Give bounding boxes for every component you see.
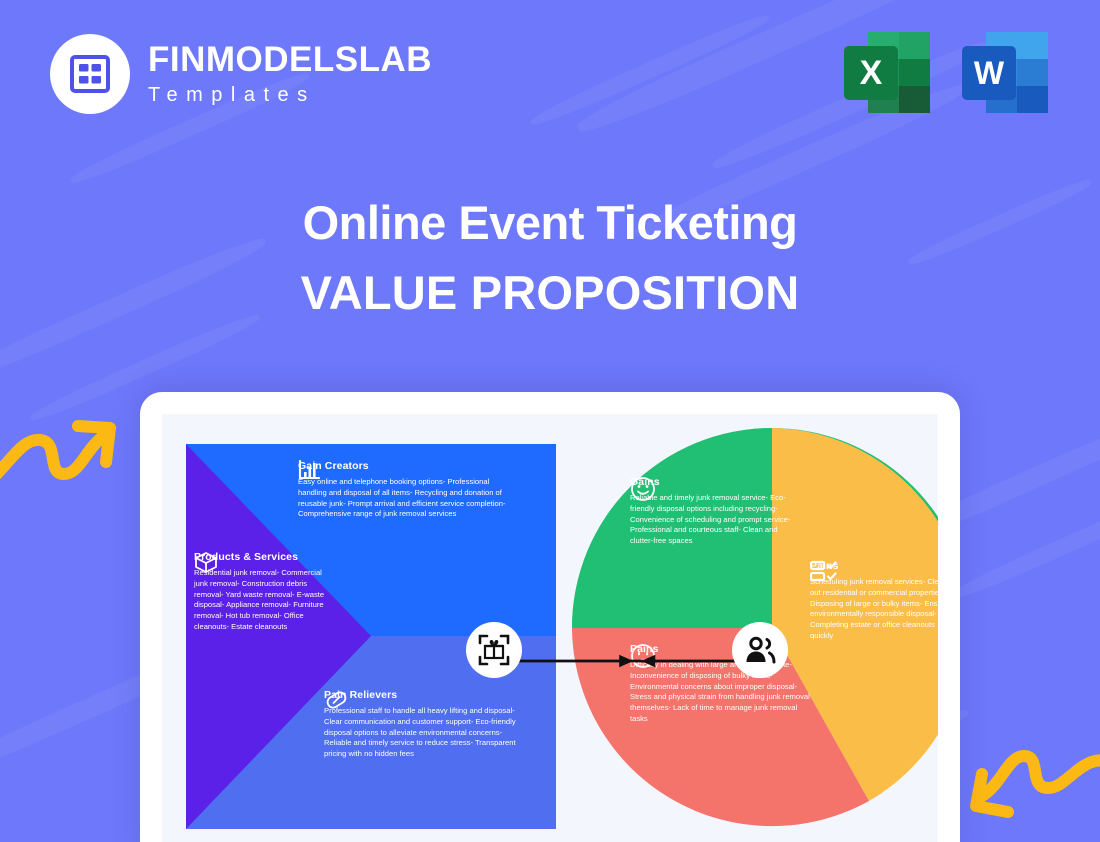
value-proposition-canvas: Gain Creators Easy online and telephone … [162, 414, 938, 842]
file-format-icons: X W [840, 28, 1052, 118]
package-box-icon [194, 551, 218, 574]
block-title: Pain Relievers [324, 689, 520, 701]
brand-logo: FINMODELSLAB Templates [50, 34, 432, 114]
brush-stroke [528, 10, 772, 130]
block-body: Professional staff to handle all heavy l… [324, 706, 520, 760]
pill-capsule-icon [324, 689, 348, 711]
device-frame: Gain Creators Easy online and telephone … [140, 392, 960, 842]
svg-text:W: W [974, 55, 1005, 91]
squiggle-arrow-up-right-icon [0, 404, 128, 500]
customer-people-icon [743, 635, 777, 665]
page-title: Online Event Ticketing [0, 196, 1100, 250]
block-title: Gain Creators [298, 460, 516, 472]
logo-tagline: Templates [148, 84, 432, 107]
svg-text:X: X [860, 54, 883, 92]
block-body: Scheduling junk removal services- Cleani… [810, 577, 938, 642]
word-icon: W [958, 28, 1052, 118]
gift-box-in-frame-icon [478, 634, 510, 666]
bar-chart-icon [298, 460, 320, 480]
screen: Gain Creators Easy online and telephone … [162, 414, 938, 842]
block-customer-jobs[interactable]: Pains Scheduling junk removal services- … [810, 560, 938, 642]
slide-canvas: FINMODELSLAB Templates X W Online Event … [0, 0, 1100, 842]
title-block: Online Event Ticketing VALUE PROPOSITION [0, 196, 1100, 320]
grid-squares-icon [70, 55, 110, 93]
brush-stroke [947, 492, 1100, 604]
block-products-services[interactable]: Products & Services Residential junk rem… [194, 551, 334, 633]
checklist-icon [810, 560, 840, 582]
block-pain-relievers[interactable]: Pain Relievers Professional staff to han… [324, 689, 520, 760]
block-body: Residential junk removal- Commercial jun… [194, 568, 334, 633]
block-body: Easy online and telephone booking option… [298, 477, 516, 520]
page-subtitle: VALUE PROPOSITION [0, 266, 1100, 320]
squiggle-arrow-down-left-icon [960, 748, 1100, 842]
logo-wordmark: FINMODELSLAB [148, 42, 432, 77]
block-gains[interactable]: Gains Reliable and timely junk removal s… [630, 476, 798, 547]
value-map-node[interactable] [466, 622, 522, 678]
smiley-face-icon [630, 476, 656, 502]
block-body: Difficulty in dealing with large amounts… [630, 660, 810, 725]
logo-circle [50, 34, 130, 114]
excel-icon: X [840, 28, 934, 118]
sad-face-icon [630, 643, 656, 669]
customer-profile-node[interactable] [732, 622, 788, 678]
block-gain-creators[interactable]: Gain Creators Easy online and telephone … [298, 460, 516, 520]
